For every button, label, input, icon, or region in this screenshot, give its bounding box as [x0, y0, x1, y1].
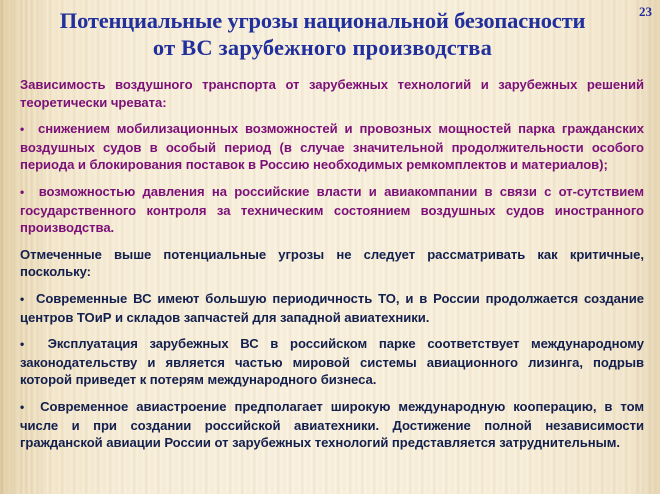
mitigation-bullet-1: • Современные ВС имеют большую периодичн… — [20, 290, 644, 326]
threat-bullet-1: • снижением мобилизационных возможностей… — [20, 120, 644, 174]
lead-paragraph: Зависимость воздушного транспорта от зар… — [20, 76, 644, 111]
threat-bullet-1-text: снижением мобилизационных возможностей и… — [20, 121, 644, 172]
mitigation-bullet-3: • Современное авиастроение предполагает … — [20, 398, 644, 452]
threat-bullet-2: • возможностью давления на российские вл… — [20, 183, 644, 237]
mitigation-bullet-3-text: Современное авиастроение предполагает ши… — [20, 399, 644, 450]
threat-bullet-2-text: возможностью давления на российские влас… — [20, 184, 644, 235]
mitigation-bullet-1-text: Современные ВС имеют большую периодичнос… — [20, 291, 644, 325]
slide-body: Зависимость воздушного транспорта от зар… — [20, 76, 644, 452]
mitigation-bullet-2-text: Эксплуатация зарубежных ВС в российском … — [20, 336, 644, 387]
presentation-slide: 23 Потенциальные угрозы национальной без… — [0, 0, 660, 494]
title-line-1: Потенциальные угрозы национальной безопа… — [0, 7, 645, 34]
mitigation-bullet-2: • Эксплуатация зарубежных ВС в российско… — [20, 335, 644, 389]
title-line-2: от ВС зарубежного производства — [0, 34, 645, 61]
slide-title: Потенциальные угрозы национальной безопа… — [0, 7, 645, 61]
transition-paragraph: Отмеченные выше потенциальные угрозы не … — [20, 246, 644, 281]
